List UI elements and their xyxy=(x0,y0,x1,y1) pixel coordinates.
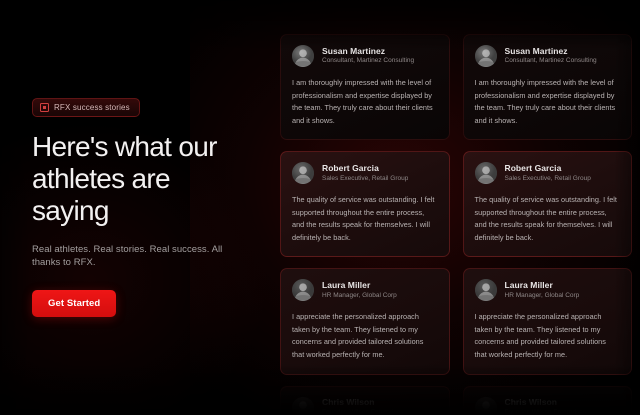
testimonial-quote: I appreciate the personalized approach t… xyxy=(292,311,438,361)
testimonial-card[interactable]: Susan MartinezConsultant, Martinez Consu… xyxy=(280,34,450,140)
author-role: Consultant, Martinez Consulting xyxy=(505,57,597,66)
author-role: HR Manager, Global Corp xyxy=(505,292,580,301)
success-stories-badge[interactable]: RFX success stories xyxy=(32,98,140,117)
author-name: Laura Miller xyxy=(505,280,580,291)
testimonials-page: RFX success stories Here's what our athl… xyxy=(0,0,640,415)
headline-line-1: Here's what our xyxy=(32,131,252,163)
avatar xyxy=(292,279,314,301)
author-block: Robert GarciaSales Executive, Retail Gro… xyxy=(322,163,408,183)
author-block: Laura MillerHR Manager, Global Corp xyxy=(322,280,397,300)
page-title: Here's what our athletes are saying xyxy=(32,131,252,227)
author-name: Susan Martinez xyxy=(505,46,597,57)
author-block: Susan MartinezConsultant, Martinez Consu… xyxy=(322,46,414,66)
headline-line-2: athletes are saying xyxy=(32,163,252,227)
testimonial-card[interactable]: Chris WilsonFounder, Wilson Enterprises xyxy=(463,386,633,415)
author-block: Robert GarciaSales Executive, Retail Gro… xyxy=(505,163,591,183)
testimonial-quote: I am thoroughly impressed with the level… xyxy=(475,77,621,127)
author-block: Chris WilsonFounder, Wilson Enterprises xyxy=(505,397,587,415)
testimonial-quote: I appreciate the personalized approach t… xyxy=(475,311,621,361)
avatar xyxy=(475,397,497,415)
author-name: Chris Wilson xyxy=(322,397,404,408)
testimonial-card[interactable]: Susan MartinezConsultant, Martinez Consu… xyxy=(463,34,633,140)
author-name: Chris Wilson xyxy=(505,397,587,408)
avatar xyxy=(475,162,497,184)
avatar xyxy=(292,397,314,415)
author-name: Laura Miller xyxy=(322,280,397,291)
hero-subheadline: Real athletes. Real stories. Real succes… xyxy=(32,243,252,270)
testimonial-quote: The quality of service was outstanding. … xyxy=(292,194,438,244)
testimonial-header: Susan MartinezConsultant, Martinez Consu… xyxy=(292,45,438,67)
avatar xyxy=(292,162,314,184)
testimonial-header: Chris WilsonFounder, Wilson Enterprises xyxy=(292,397,438,415)
author-name: Robert Garcia xyxy=(505,163,591,174)
avatar xyxy=(475,45,497,67)
author-role: Founder, Wilson Enterprises xyxy=(505,409,587,415)
avatar xyxy=(292,45,314,67)
badge-label: RFX success stories xyxy=(54,103,130,112)
author-role: Sales Executive, Retail Group xyxy=(505,175,591,184)
testimonial-columns: Susan MartinezConsultant, Martinez Consu… xyxy=(272,0,640,415)
testimonial-header: Laura MillerHR Manager, Global Corp xyxy=(292,279,438,301)
sparkle-badge-icon xyxy=(40,103,49,112)
author-name: Robert Garcia xyxy=(322,163,408,174)
author-block: Susan MartinezConsultant, Martinez Consu… xyxy=(505,46,597,66)
testimonial-card[interactable]: Robert GarciaSales Executive, Retail Gro… xyxy=(463,151,633,257)
testimonial-quote: The quality of service was outstanding. … xyxy=(475,194,621,244)
testimonial-header: Robert GarciaSales Executive, Retail Gro… xyxy=(475,162,621,184)
testimonial-card[interactable]: Laura MillerHR Manager, Global CorpI app… xyxy=(280,268,450,374)
testimonial-card[interactable]: Chris WilsonFounder, Wilson Enterprises xyxy=(280,386,450,415)
author-name: Susan Martinez xyxy=(322,46,414,57)
author-role: Founder, Wilson Enterprises xyxy=(322,409,404,415)
author-role: Sales Executive, Retail Group xyxy=(322,175,408,184)
author-role: HR Manager, Global Corp xyxy=(322,292,397,301)
author-block: Laura MillerHR Manager, Global Corp xyxy=(505,280,580,300)
testimonial-header: Chris WilsonFounder, Wilson Enterprises xyxy=(475,397,621,415)
testimonial-card[interactable]: Robert GarciaSales Executive, Retail Gro… xyxy=(280,151,450,257)
testimonial-header: Laura MillerHR Manager, Global Corp xyxy=(475,279,621,301)
testimonial-card[interactable]: Laura MillerHR Manager, Global CorpI app… xyxy=(463,268,633,374)
testimonial-column-a: Susan MartinezConsultant, Martinez Consu… xyxy=(280,34,450,415)
testimonials-marquee: Susan MartinezConsultant, Martinez Consu… xyxy=(272,0,640,415)
testimonial-quote: I am thoroughly impressed with the level… xyxy=(292,77,438,127)
author-block: Chris WilsonFounder, Wilson Enterprises xyxy=(322,397,404,415)
get-started-button[interactable]: Get Started xyxy=(32,290,116,317)
avatar xyxy=(475,279,497,301)
hero-panel: RFX success stories Here's what our athl… xyxy=(0,0,272,415)
testimonial-column-b: Susan MartinezConsultant, Martinez Consu… xyxy=(463,34,633,415)
testimonial-header: Robert GarciaSales Executive, Retail Gro… xyxy=(292,162,438,184)
testimonial-header: Susan MartinezConsultant, Martinez Consu… xyxy=(475,45,621,67)
author-role: Consultant, Martinez Consulting xyxy=(322,57,414,66)
